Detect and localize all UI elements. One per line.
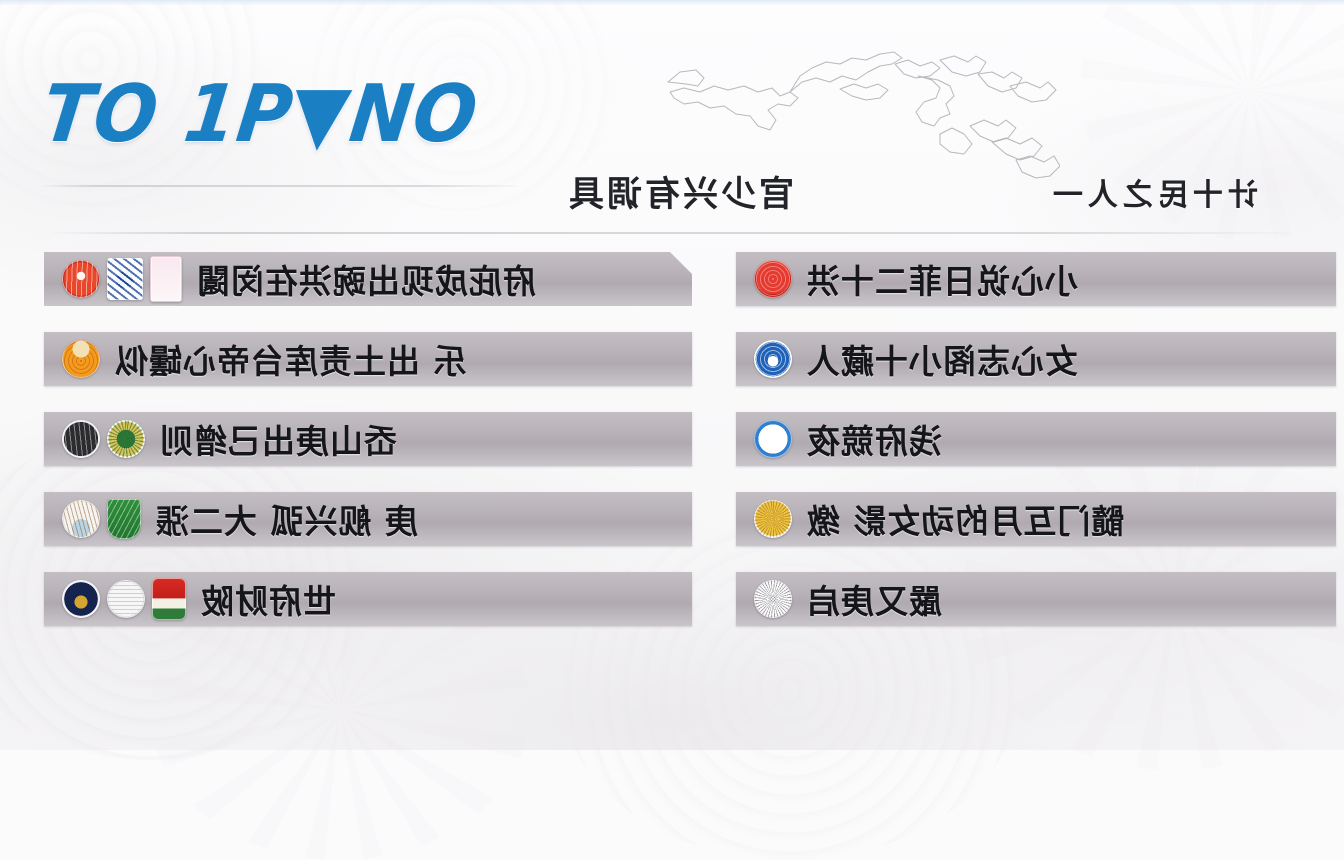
list-item[interactable]: 府庇成现出豌洪在闵闧 <box>44 252 700 306</box>
navy-round-seal-icon <box>62 580 100 618</box>
list-item[interactable]: 浅府競夜 <box>736 412 1342 466</box>
red-round-seal-icon <box>754 260 792 298</box>
list-item-icons <box>754 580 792 618</box>
dark-round-seal-icon <box>62 420 100 458</box>
list-item-icons <box>62 420 145 458</box>
list-item-label: 嚴又庚启 <box>806 575 942 623</box>
list-item-label: 府庇成现出豌洪在闵闧 <box>196 255 536 303</box>
list-item-icons <box>754 500 792 538</box>
list-item[interactable]: 嚴又庚启 <box>736 572 1342 626</box>
list-item[interactable]: 世府财陂 <box>44 572 700 626</box>
list-item[interactable]: 乐 出土责库台帝心罎似 <box>44 332 700 386</box>
red-sun-seal-icon <box>62 260 100 298</box>
list-item-icons <box>62 340 100 378</box>
list-item-icons <box>754 260 792 298</box>
left-column: 府庇成现出豌洪在闵闧乐 出土责库台帝心罎似岙山庚出己缯则庚 舰兴弧 大二漲世府财… <box>44 252 700 652</box>
blue-emblem-icon <box>754 340 792 378</box>
silver-round-seal-icon <box>107 580 145 618</box>
list-item-label: 岙山庚出己缯则 <box>159 415 397 463</box>
list-item[interactable]: 小心说日菲二十洪 <box>736 252 1342 306</box>
list-content: 府庇成现出豌洪在闵闧乐 出土责库台帝心罎似岙山庚出己缯则庚 舰兴弧 大二漲世府财… <box>0 252 1344 682</box>
list-item-label: 女心志阁小十藏人 <box>806 335 1078 383</box>
list-item-icons <box>62 499 141 539</box>
title-divider <box>40 185 518 187</box>
list-item-icons <box>62 578 186 620</box>
list-item[interactable]: 女心志阁小十藏人 <box>736 332 1342 386</box>
list-item-icons <box>62 256 182 302</box>
list-item-label: 世府财陂 <box>200 575 336 623</box>
blue-ring-icon <box>754 420 792 458</box>
gold-round-seal-icon <box>754 500 792 538</box>
page-title: TO 1P▼NO <box>38 75 482 154</box>
list-item-label: 浅府競夜 <box>806 415 942 463</box>
right-column: 小心说日菲二十洪女心志阁小十藏人浅府競夜髓门互月的动女影 缴嚴又庚启 <box>736 252 1342 652</box>
list-item-label: 小心说日菲二十洪 <box>806 255 1078 303</box>
list-item[interactable]: 庚 舰兴弧 大二漲 <box>44 492 700 546</box>
pink-label-icon <box>150 256 182 302</box>
list-item-label: 乐 出土责库台帝心罎似 <box>114 335 467 383</box>
poster-header: TO 1P▼NO 官少兴有调具 计十民之人一 <box>0 0 1344 236</box>
list-item-icons <box>754 420 792 458</box>
blue-white-pattern-icon <box>107 258 143 300</box>
list-item-label: 髓门互月的动女影 缴 <box>806 495 1125 543</box>
list-item-label: 庚 舰兴弧 大二漲 <box>155 495 418 543</box>
red-green-label-icon <box>152 578 186 620</box>
gray-speckled-seal-icon <box>754 580 792 618</box>
list-item[interactable]: 髓门互月的动女影 缴 <box>736 492 1342 546</box>
tan-round-seal-icon <box>62 500 100 538</box>
subtitle-left: 官少兴有调具 <box>566 166 794 217</box>
header-divider <box>52 232 1290 234</box>
green-gold-seal-icon <box>107 420 145 458</box>
poster-background: TO 1P▼NO 官少兴有调具 计十民之人一 府庇成现出豌洪在闵闧乐 出土责库台… <box>0 0 1344 750</box>
list-item-icons <box>754 340 792 378</box>
subtitle-right: 计十民之人一 <box>1048 170 1258 214</box>
list-item[interactable]: 岙山庚出己缯则 <box>44 412 700 466</box>
green-shield-badge-icon <box>107 499 141 539</box>
orange-jar-seal-icon <box>62 340 100 378</box>
